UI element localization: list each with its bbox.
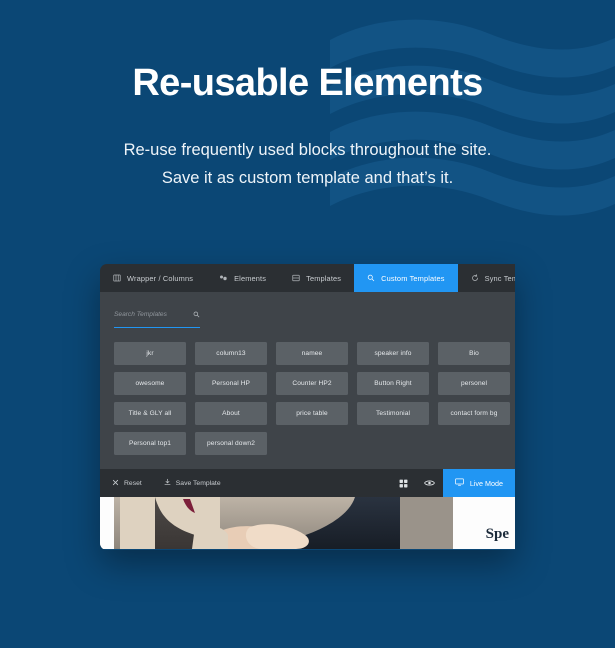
hero-subtitle-line-2: Save it as custom template and that’s it… <box>162 169 453 187</box>
reset-button[interactable]: Reset <box>112 479 142 488</box>
templates-icon <box>292 274 300 282</box>
hero-subtitle: Re-use frequently used blocks throughout… <box>0 137 615 192</box>
template-tile[interactable]: personel <box>438 372 510 395</box>
live-mode-label: Live Mode <box>470 479 503 488</box>
panel-tab-bar: Wrapper / Columns Elements Templates <box>100 264 515 292</box>
elements-icon <box>219 274 228 282</box>
monitor-icon <box>455 478 464 488</box>
tab-label: Wrapper / Columns <box>127 274 193 283</box>
template-tile[interactable]: Personal top1 <box>114 432 186 455</box>
template-tile[interactable]: column13 <box>195 342 267 365</box>
tab-label: Elements <box>234 274 266 283</box>
live-mode-button[interactable]: Live Mode <box>443 469 515 497</box>
template-tile[interactable]: Bio <box>438 342 510 365</box>
save-label: Save Template <box>176 480 221 487</box>
reset-label: Reset <box>124 480 142 487</box>
tab-elements[interactable]: Elements <box>206 264 279 292</box>
hero-subtitle-line-1: Re-use frequently used blocks throughout… <box>124 141 492 159</box>
template-tile[interactable]: owesome <box>114 372 186 395</box>
preview-caption: Spe <box>486 526 509 543</box>
template-tile[interactable]: Personal HP <box>195 372 267 395</box>
tab-label: Custom Templates <box>381 274 444 283</box>
template-tile[interactable]: personal down2 <box>195 432 267 455</box>
template-tile[interactable]: price table <box>276 402 348 425</box>
custom-templates-icon <box>367 274 375 282</box>
template-tile[interactable]: namee <box>276 342 348 365</box>
search-templates-box[interactable] <box>114 305 200 328</box>
search-input[interactable] <box>114 311 176 318</box>
template-tile[interactable]: Button Right <box>357 372 429 395</box>
preview-eye-icon[interactable] <box>417 469 443 497</box>
hero-section: Re-usable Elements Re-use frequently use… <box>0 0 615 192</box>
search-row <box>100 292 515 328</box>
tab-custom-templates[interactable]: Custom Templates <box>354 264 457 292</box>
search-icon[interactable] <box>193 305 200 323</box>
page-title: Re-usable Elements <box>0 63 615 105</box>
template-tile[interactable]: About <box>195 402 267 425</box>
builder-panel-screenshot: Wrapper / Columns Elements Templates <box>100 264 515 550</box>
template-tile[interactable]: speaker info <box>357 342 429 365</box>
panel-body: jkr column13 namee speaker info Bio box … <box>100 292 515 469</box>
download-icon <box>164 478 171 488</box>
sync-icon <box>471 274 479 282</box>
preview-left-margin <box>100 497 114 549</box>
tab-wrapper-columns[interactable]: Wrapper / Columns <box>100 264 206 292</box>
tab-sync-templates[interactable]: Sync Templates <box>458 264 515 292</box>
save-template-button[interactable]: Save Template <box>164 478 221 488</box>
grid-view-icon[interactable] <box>391 469 417 497</box>
columns-icon <box>113 274 121 282</box>
template-tile[interactable]: Counter HP2 <box>276 372 348 395</box>
template-preview-strip: Spe <box>100 497 515 549</box>
close-icon <box>112 479 119 488</box>
tab-templates[interactable]: Templates <box>279 264 354 292</box>
template-tile[interactable]: Testimonial <box>357 402 429 425</box>
template-tile[interactable]: jkr <box>114 342 186 365</box>
template-tile[interactable]: contact form bg <box>438 402 510 425</box>
toolbar-right-group: Live Mode <box>391 469 515 497</box>
custom-templates-grid: jkr column13 namee speaker info Bio box … <box>100 328 515 469</box>
tab-label: Templates <box>306 274 341 283</box>
panel-bottom-toolbar: Reset Save Template <box>100 469 515 497</box>
template-tile[interactable]: Title & GLY all <box>114 402 186 425</box>
tab-label: Sync Templates <box>485 274 515 283</box>
